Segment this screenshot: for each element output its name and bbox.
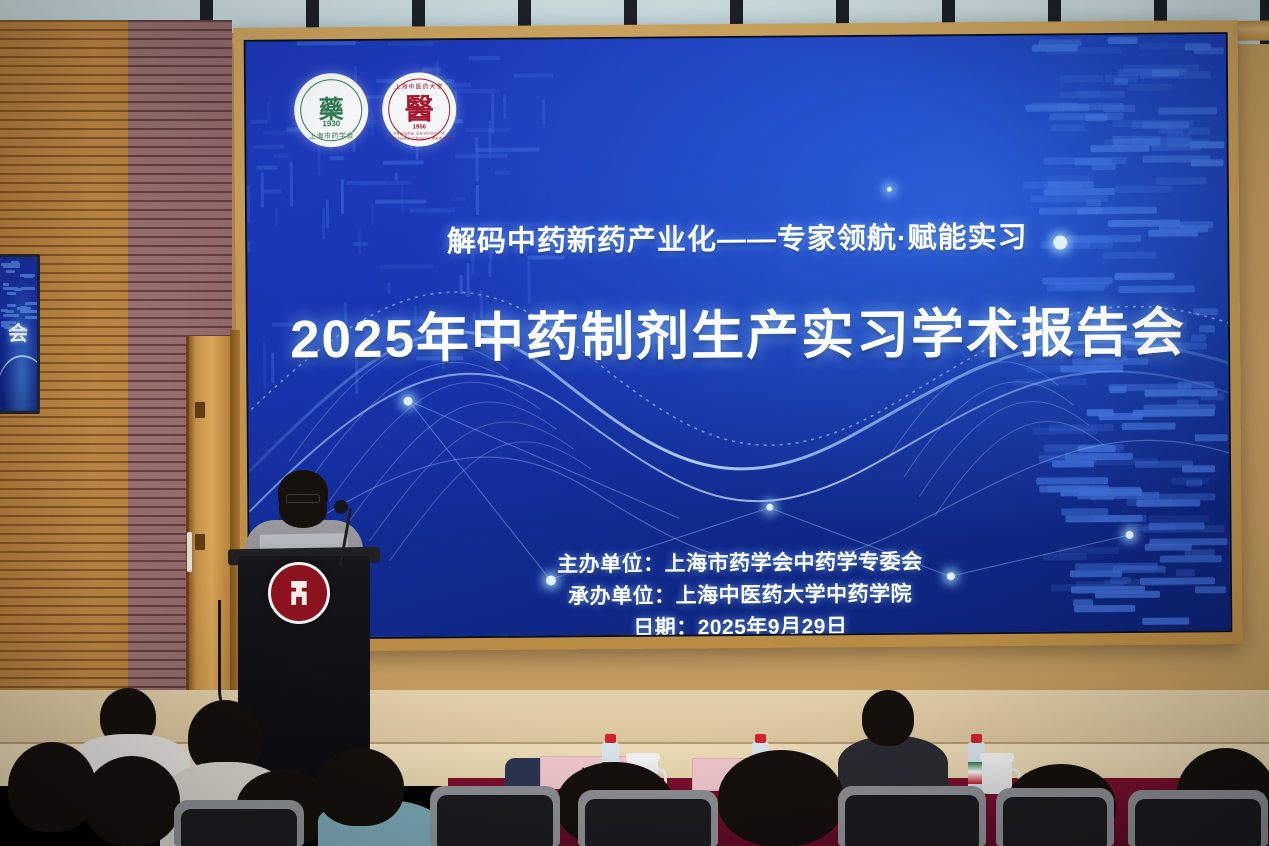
seat-inner	[1135, 799, 1261, 846]
door-handle[interactable]	[187, 532, 192, 572]
audience-head	[718, 750, 844, 846]
seat	[174, 800, 304, 846]
podium-emblem-icon	[268, 562, 330, 624]
logo-arc-text: Shanghai University of Traditional Chine…	[382, 130, 456, 141]
audience-head	[316, 748, 404, 826]
microphone-head-icon	[334, 500, 348, 514]
glow-dot	[887, 187, 892, 192]
screen-frame: 藥 1930 上海市药学会 上海中医药大学 醫 1956 Shanghai Un…	[234, 20, 1243, 652]
side-monitor-text: 会	[0, 317, 37, 346]
seat	[1128, 790, 1268, 846]
seat	[430, 786, 560, 846]
door-hinge	[195, 402, 205, 418]
audience-head	[84, 756, 180, 846]
projection-screen: 藥 1930 上海市药学会 上海中医药大学 醫 1956 Shanghai Un…	[244, 32, 1233, 640]
glow-dot	[403, 397, 412, 406]
seat-inner	[585, 799, 711, 846]
seat	[578, 790, 718, 846]
logo-arc-text: 上海市药学会	[294, 131, 368, 142]
audience-head	[8, 742, 96, 832]
door-hinge	[195, 534, 205, 550]
logo-shanghai-university-of-tcm: 上海中医药大学 醫 1956 Shanghai University of Tr…	[382, 72, 457, 147]
seated-person-head	[862, 690, 914, 746]
logo-shanghai-pharmaceutical-association: 藥 1930 上海市药学会	[294, 73, 369, 148]
glow-dot	[766, 504, 773, 511]
slide-subtitle: 解码中药新药产业化——专家领航·赋能实习	[247, 212, 1227, 262]
seat	[838, 786, 986, 846]
seat-inner	[437, 795, 553, 846]
logo-year: 1930	[294, 119, 368, 129]
side-monitor: 会	[0, 254, 40, 414]
speaker-glasses	[286, 494, 320, 503]
slide-footer: 主办单位：上海市药学会中药学专委会 承办单位：上海中医药大学中药学院 日期：20…	[250, 544, 1231, 640]
slide-logos: 藥 1930 上海市药学会 上海中医药大学 醫 1956 Shanghai Un…	[294, 72, 457, 147]
logo-glyph: 醫	[382, 86, 456, 129]
speaker-hair	[278, 470, 328, 514]
slide-title: 2025年中药制剂生产实习学术报告会	[248, 290, 1229, 374]
lecture-hall-scene: 藥 1930 上海市药学会 上海中医药大学 醫 1956 Shanghai Un…	[0, 0, 1269, 846]
glow-dot	[1126, 531, 1134, 539]
seat-inner	[1003, 797, 1107, 846]
seat-inner	[181, 809, 297, 846]
seat-inner	[845, 795, 979, 846]
seat	[996, 788, 1114, 846]
